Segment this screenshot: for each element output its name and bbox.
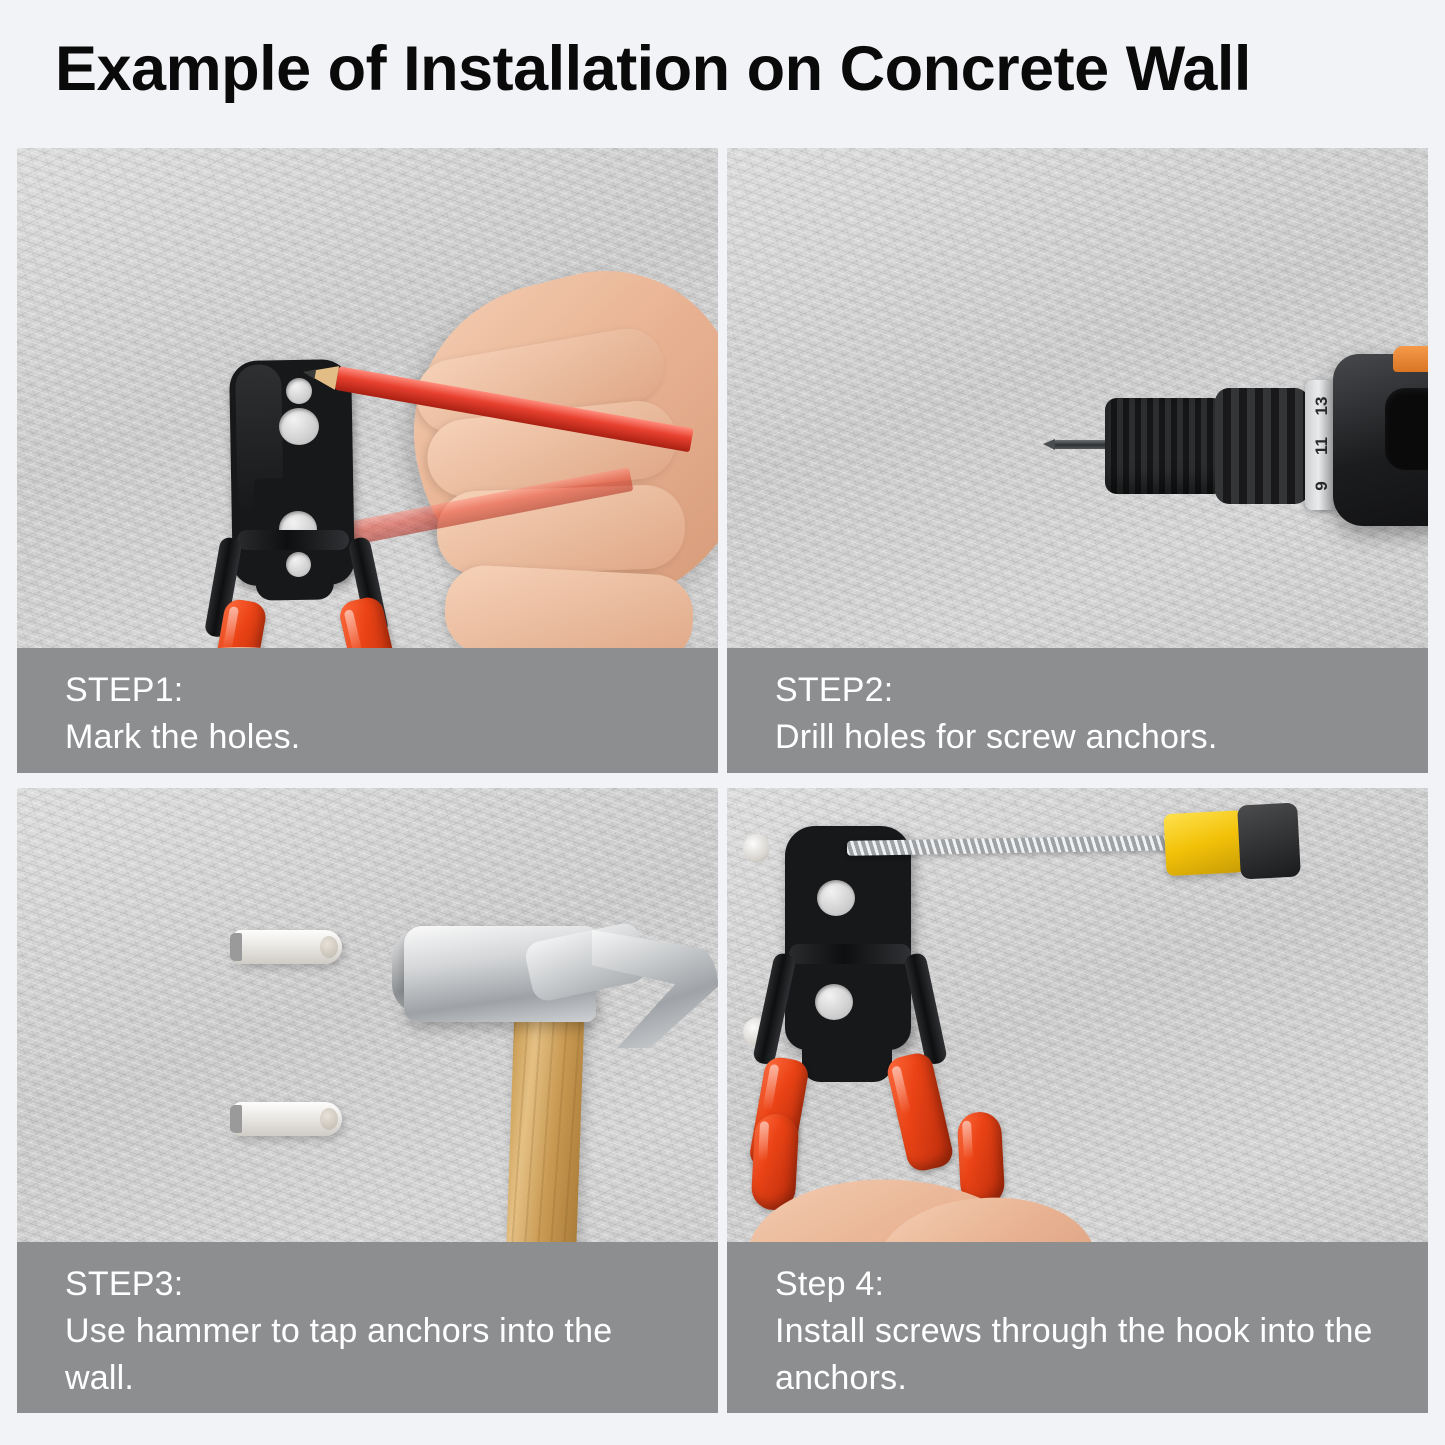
- screwdriver-handle-grip: [1237, 802, 1301, 879]
- step-2-caption: STEP2: Drill holes for screw anchors.: [727, 648, 1428, 773]
- step-2-text: Drill holes for screw anchors.: [775, 714, 1380, 761]
- step-1-label: STEP1:: [65, 666, 670, 714]
- clutch-marking-13: 13: [1312, 397, 1332, 416]
- step-1-caption: STEP1: Mark the holes.: [17, 648, 718, 773]
- clutch-marking-9: 9: [1312, 481, 1332, 490]
- clutch-marking-11: 11: [1312, 437, 1332, 455]
- drill-chuck: [1105, 398, 1225, 494]
- drill-top-stripe: [1393, 346, 1428, 372]
- step-4-label: Step 4:: [775, 1260, 1380, 1308]
- mounting-hole: [815, 984, 853, 1020]
- mounting-hole: [817, 880, 855, 916]
- step-2-label: STEP2:: [775, 666, 1380, 714]
- drill-collar: [1215, 388, 1309, 504]
- hook-lower-plate: [802, 950, 892, 1082]
- step-3-caption: STEP3: Use hammer to tap anchors into th…: [17, 1242, 718, 1413]
- hammer-handle: [505, 1009, 584, 1273]
- step-3-label: STEP3:: [65, 1260, 670, 1308]
- mounting-hole: [286, 552, 311, 577]
- step-3-panel: STEP3: Use hammer to tap anchors into th…: [17, 788, 718, 1413]
- step-2-panel: 13 11 9 STEP2: Drill holes for screw anc…: [727, 148, 1428, 773]
- hook-tip-left-upturn: [751, 1113, 800, 1211]
- wall-anchor-upper: [234, 930, 342, 964]
- hook-crossbar: [237, 530, 349, 550]
- hook-crossbar: [789, 944, 911, 964]
- step-1-panel: STEP1: Mark the holes.: [17, 148, 718, 773]
- wall-anchor-upper: [743, 834, 769, 862]
- step-3-text: Use hammer to tap anchors into the wall.: [65, 1308, 670, 1402]
- mounting-hole: [279, 408, 319, 445]
- step-4-caption: Step 4: Install screws through the hook …: [727, 1242, 1428, 1413]
- page-title: Example of Installation on Concrete Wall: [55, 26, 1405, 112]
- wall-anchor-lower: [234, 1102, 342, 1136]
- installation-steps-grid: STEP1: Mark the holes. 13 11 9 STEP2: Dr…: [17, 148, 1428, 1413]
- step-4-panel: Step 4: Install screws through the hook …: [727, 788, 1428, 1413]
- step-1-text: Mark the holes.: [65, 714, 670, 761]
- drill-body: [1333, 354, 1428, 526]
- step-4-text: Install screws through the hook into the…: [775, 1308, 1380, 1402]
